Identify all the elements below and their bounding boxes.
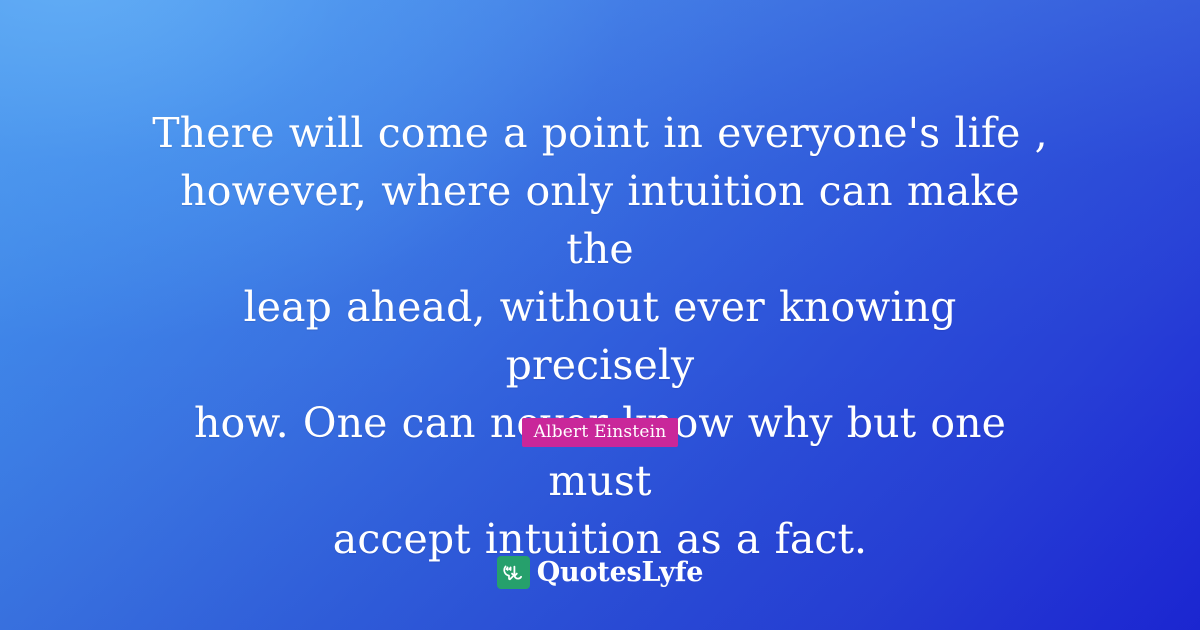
author-row: Albert Einstein [0, 418, 1200, 447]
brand-logo[interactable]: QuotesLyfe [0, 556, 1200, 589]
quote-text: There will come a point in everyone's li… [150, 104, 1050, 568]
quote-bubble-icon [497, 556, 530, 589]
quote-card: There will come a point in everyone's li… [0, 0, 1200, 630]
quote-card-content: There will come a point in everyone's li… [0, 0, 1200, 630]
quote-block: There will come a point in everyone's li… [0, 104, 1200, 568]
brand-name: QuotesLyfe [537, 558, 704, 588]
author-badge: Albert Einstein [522, 418, 679, 447]
